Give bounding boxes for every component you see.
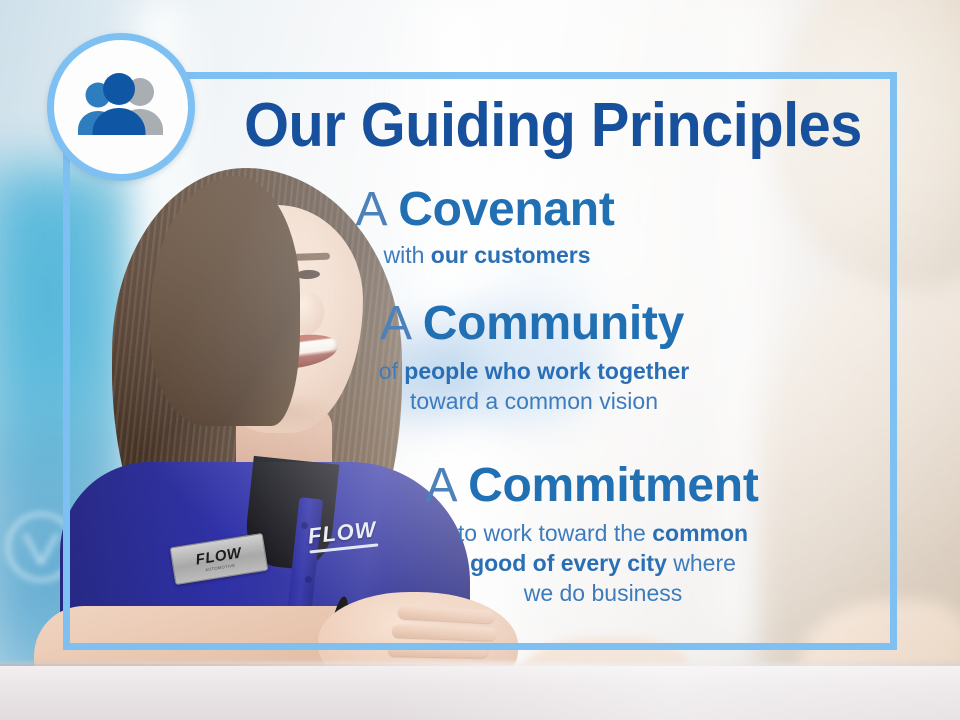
subtext-part-bold: people who work together [404, 358, 689, 384]
employee-finger [388, 643, 488, 658]
subtext-line: good of every city where [246, 549, 960, 579]
principle-community: A Community of people who work together … [0, 300, 960, 417]
subtext-line: we do business [246, 579, 960, 609]
principle-community-subtext: of people who work together toward a com… [0, 357, 960, 417]
subtext-part: where [667, 550, 736, 576]
principle-community-title: A Community [0, 300, 960, 349]
subtext-line: to work toward the common [246, 519, 960, 549]
people-group-badge [47, 33, 195, 181]
principle-keyword: Covenant [398, 183, 614, 236]
principle-covenant-subtext: with our customers [0, 241, 960, 271]
principle-article: A [425, 459, 454, 512]
subtext-line: of people who work together [108, 357, 960, 387]
principle-article: A [380, 297, 409, 350]
principle-keyword: Commitment [468, 459, 758, 512]
principle-commitment-subtext: to work toward the common good of every … [0, 519, 960, 609]
poster-canvas: FLOW FLOW AUTOMOTIVE [0, 0, 960, 720]
principle-covenant-title: A Covenant [0, 186, 960, 235]
subtext-part: to work toward the [458, 520, 652, 546]
subtext-part-bold: common [652, 520, 748, 546]
principle-keyword: Community [423, 297, 684, 350]
principle-covenant: A Covenant with our customers [0, 186, 960, 271]
principle-commitment-title: A Commitment [0, 462, 960, 511]
subtext-part-bold: good of every city [470, 550, 667, 576]
principle-article: A [355, 183, 384, 236]
desk-surface [0, 666, 960, 720]
subtext-part: with [383, 242, 430, 268]
people-group-icon [73, 71, 169, 143]
subtext-part: of [379, 358, 405, 384]
subtext-line: with our customers [14, 241, 960, 271]
principle-commitment: A Commitment to work toward the common g… [0, 462, 960, 609]
subtext-part-bold: our customers [431, 242, 591, 268]
page-title: Our Guiding Principles [237, 93, 869, 158]
subtext-line: toward a common vision [108, 387, 960, 417]
